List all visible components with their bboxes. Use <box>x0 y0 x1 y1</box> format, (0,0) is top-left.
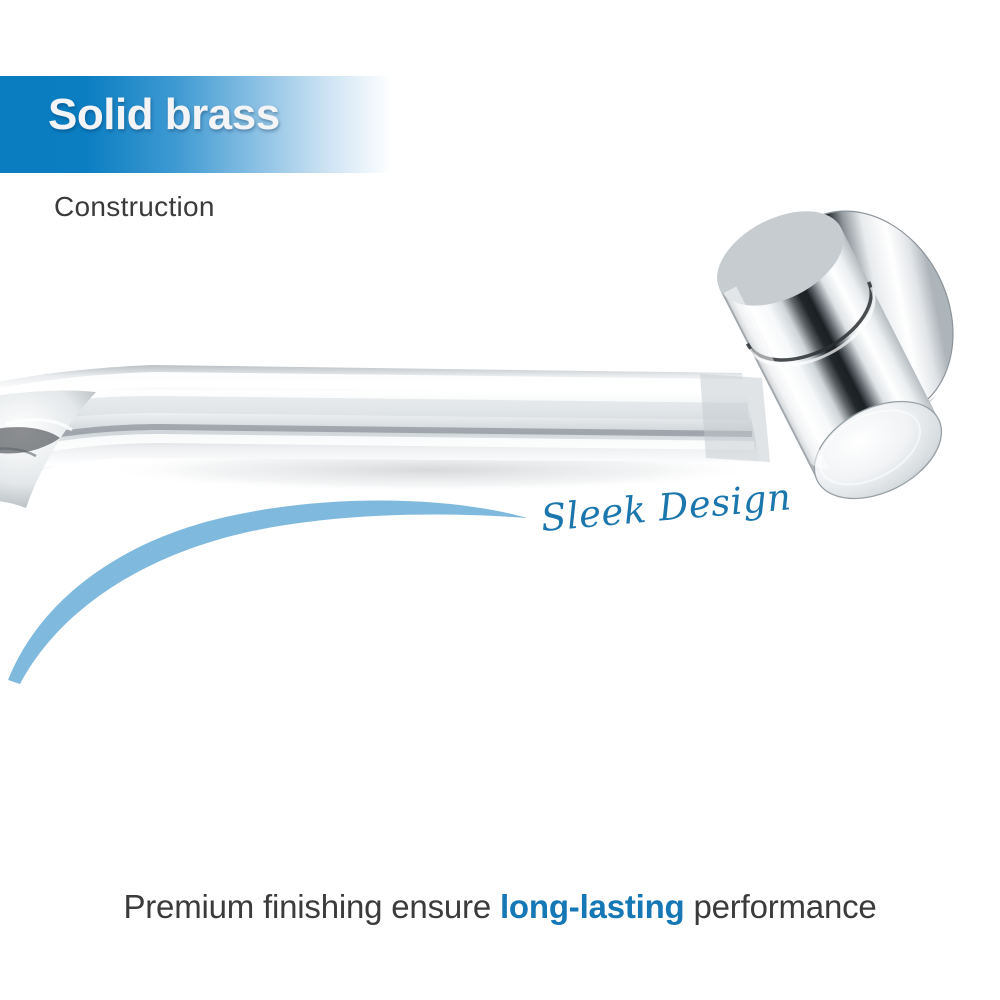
callout-arc <box>8 500 527 684</box>
spout-tip <box>0 390 96 508</box>
headline-title: Solid brass <box>48 90 280 140</box>
product-marketing-image: Solid brass Construction Sleek Design Pr… <box>0 0 1000 1000</box>
wall-flange <box>736 180 989 454</box>
caption-text-after: performance <box>685 888 877 925</box>
bottom-caption: Premium finishing ensure long-lasting pe… <box>0 888 1000 926</box>
caption-highlight: long-lasting <box>500 888 685 925</box>
spout-arm <box>0 365 770 500</box>
cylinder-end-cap <box>798 382 957 519</box>
caption-text-before: Premium finishing ensure <box>123 888 500 925</box>
headline-subtitle: Construction <box>54 191 215 223</box>
sleek-design-callout-label: Sleek Design <box>539 475 793 540</box>
valve-cylinder <box>702 192 958 518</box>
